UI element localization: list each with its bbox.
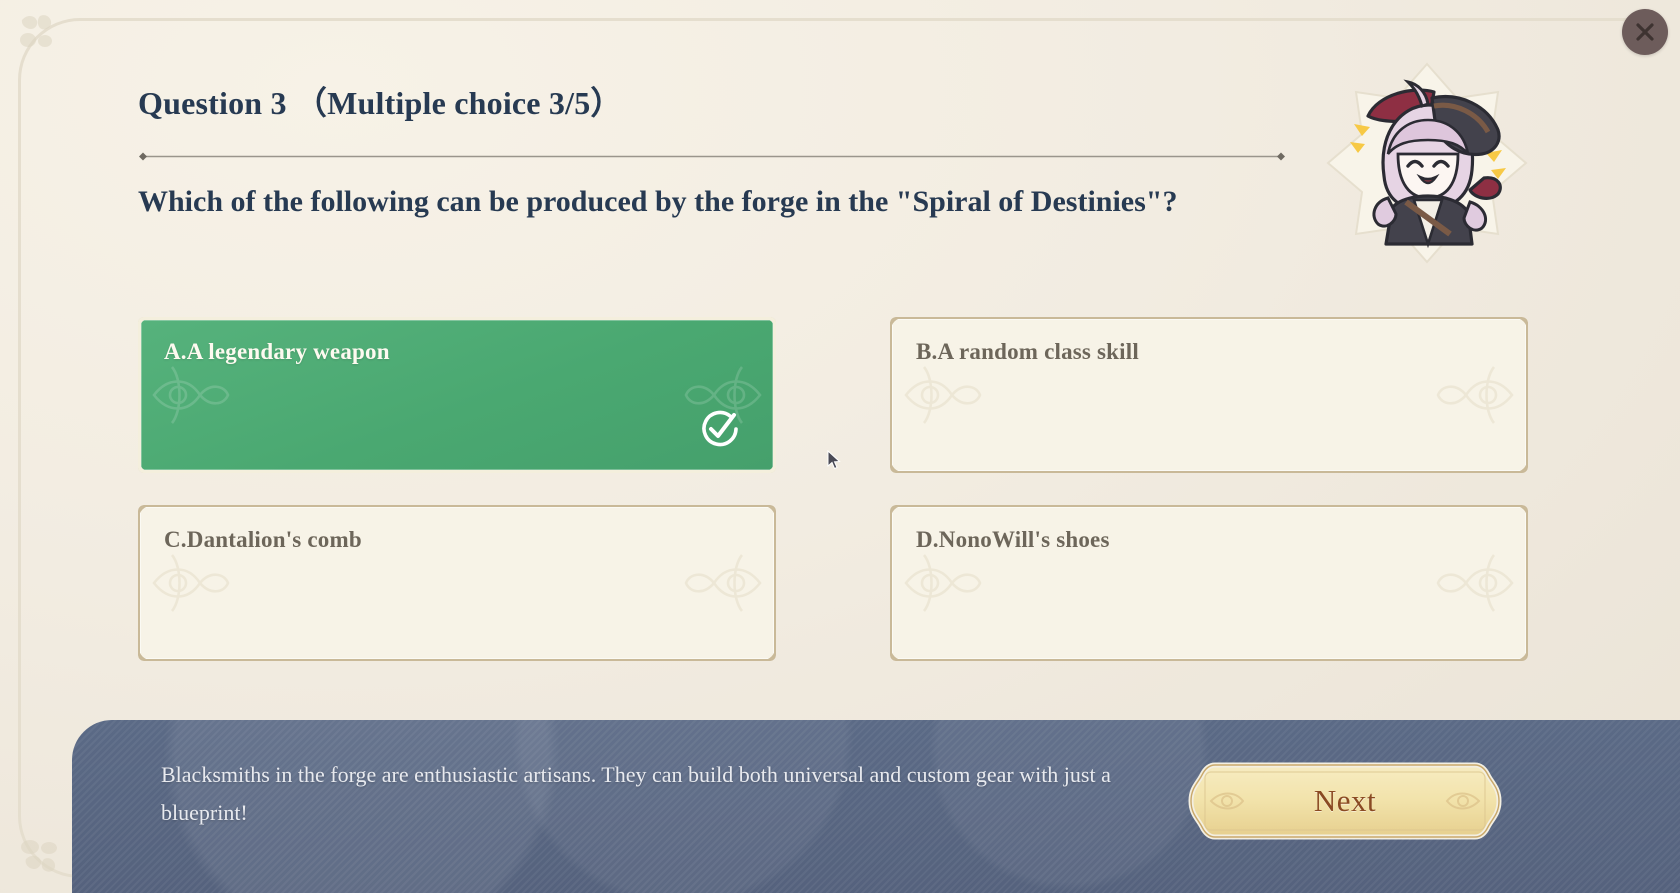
leaf-flourish-icon [16, 10, 72, 58]
option-b-label: B.A random class skill [916, 339, 1139, 365]
question-text: Which of the following can be produced b… [138, 180, 1298, 224]
quiz-dialog: Question 3 （Multiple choice 3/5） Which o… [0, 0, 1680, 893]
option-d[interactable]: D.NonoWill's shoes [890, 505, 1528, 661]
question-header: Question 3 （Multiple choice 3/5） [138, 78, 623, 124]
chibi-character-avatar [1322, 58, 1532, 268]
next-button[interactable]: Next [1185, 762, 1505, 840]
close-button[interactable] [1622, 9, 1668, 55]
title-divider [138, 148, 1286, 157]
close-x-icon [1634, 21, 1656, 43]
option-c-label: C.Dantalion's comb [164, 527, 362, 553]
option-a[interactable]: A.A legendary weapon [138, 317, 776, 473]
next-button-label: Next [1185, 762, 1505, 840]
option-d-label: D.NonoWill's shoes [916, 527, 1110, 553]
page-title: Question 3 （Multiple choice 3/5） [138, 78, 623, 124]
explanation-text: Blacksmiths in the forge are enthusiasti… [161, 756, 1181, 832]
options-grid: A.A legendary weapon [138, 317, 1528, 661]
option-a-label: A.A legendary weapon [164, 339, 390, 365]
option-c[interactable]: C.Dantalion's comb [138, 505, 776, 661]
footer-bar: Blacksmiths in the forge are enthusiasti… [72, 720, 1680, 893]
check-circle-icon [698, 407, 742, 451]
leaf-flourish-icon-bottom [16, 831, 72, 879]
option-b[interactable]: B.A random class skill [890, 317, 1528, 473]
